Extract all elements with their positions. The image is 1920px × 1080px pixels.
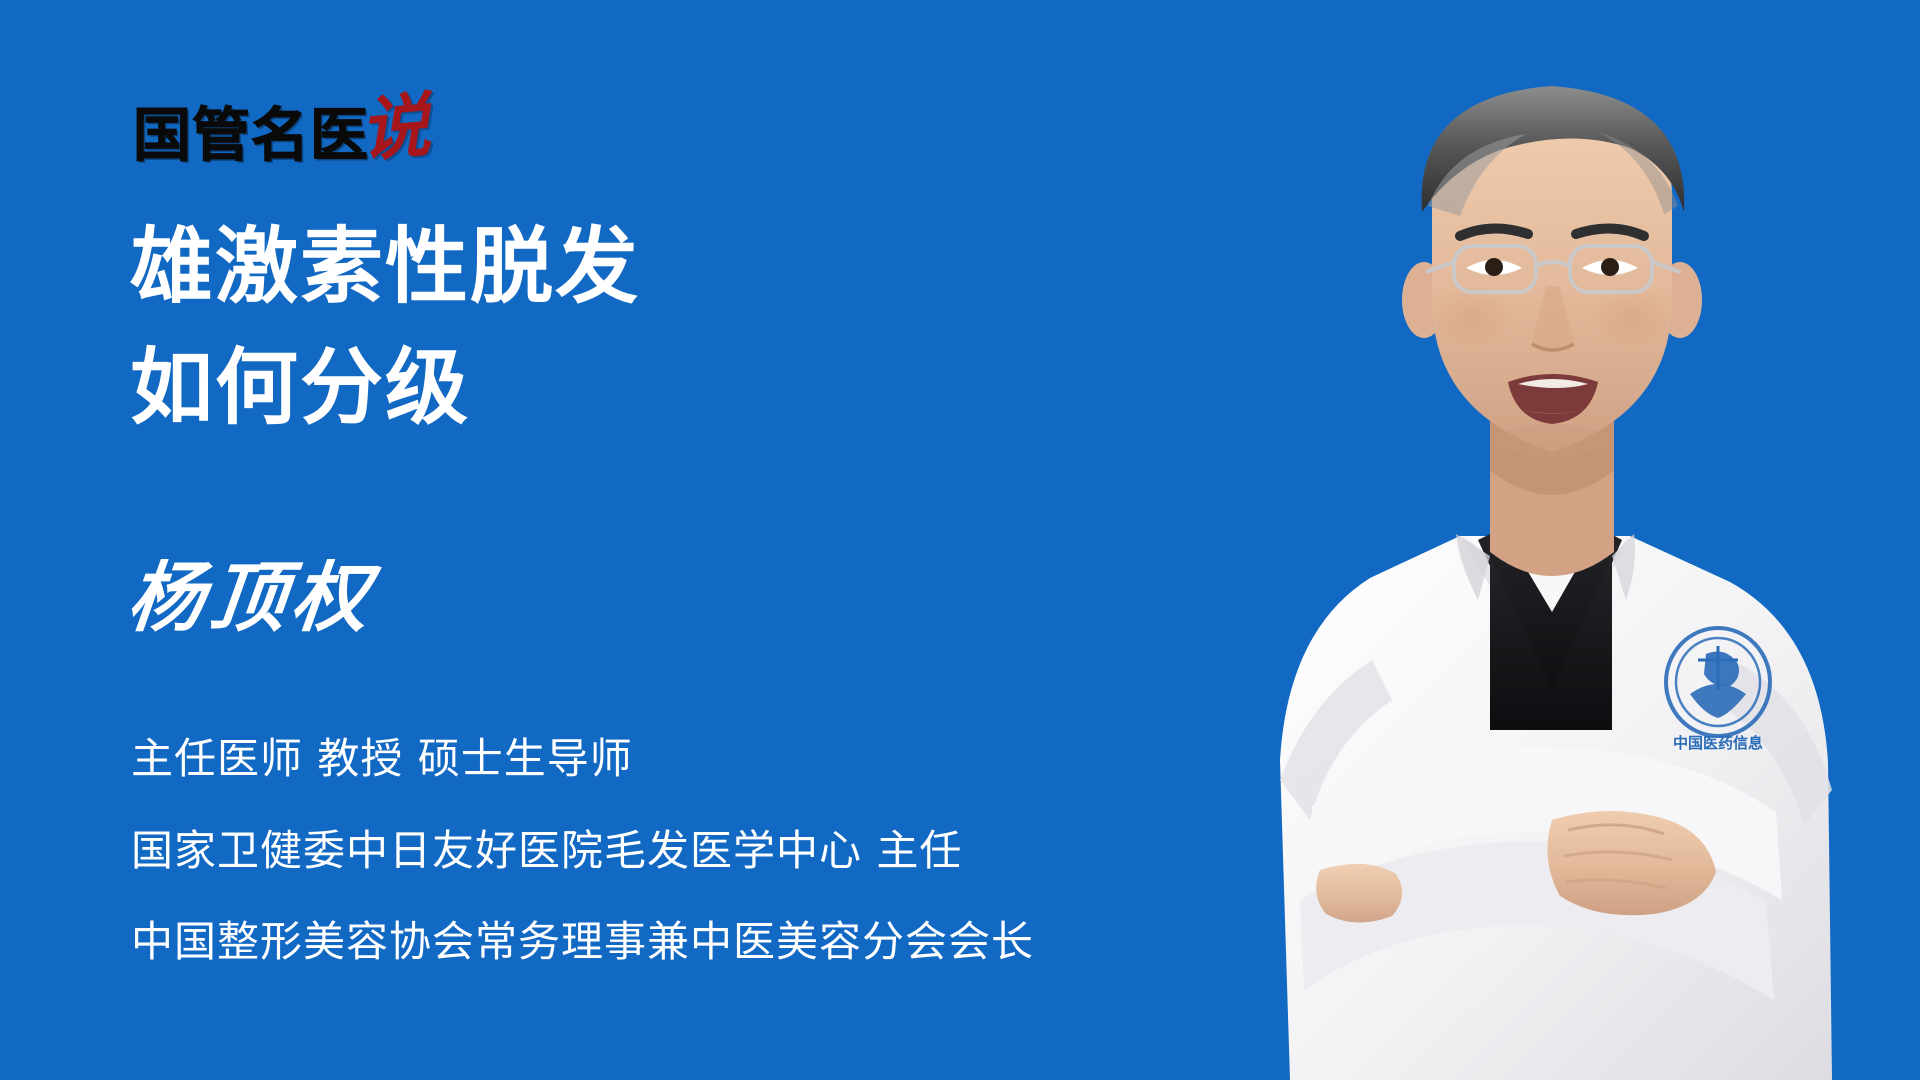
program-logo: 国管名医 说 xyxy=(133,96,433,166)
slide-title: 雄激素性脱发 如何分级 xyxy=(130,206,640,448)
credential-line-2: 国家卫健委中日友好医院毛发医学中心 主任 xyxy=(131,805,1034,897)
title-line-2: 如何分级 xyxy=(130,327,640,448)
title-line-1: 雄激素性脱发 xyxy=(130,206,640,327)
slide-canvas: 中国医药信息 xyxy=(0,0,1920,1080)
doctor-head xyxy=(1402,86,1702,456)
credential-line-1: 主任医师 教授 硕士生导师 xyxy=(131,713,1034,805)
doctor-portrait-image: 中国医药信息 xyxy=(1160,0,1920,1080)
logo-main-text: 国管名医 xyxy=(133,106,369,164)
speaker-credentials: 主任医师 教授 硕士生导师 国家卫健委中日友好医院毛发医学中心 主任 中国整形美… xyxy=(131,713,1034,988)
coat-badge-label: 中国医药信息 xyxy=(1673,734,1763,752)
logo-accent-text: 说 xyxy=(357,90,433,166)
credential-line-3: 中国整形美容协会常务理事兼中医美容分会会长 xyxy=(131,896,1034,988)
speaker-name: 杨顶权 xyxy=(124,560,378,636)
